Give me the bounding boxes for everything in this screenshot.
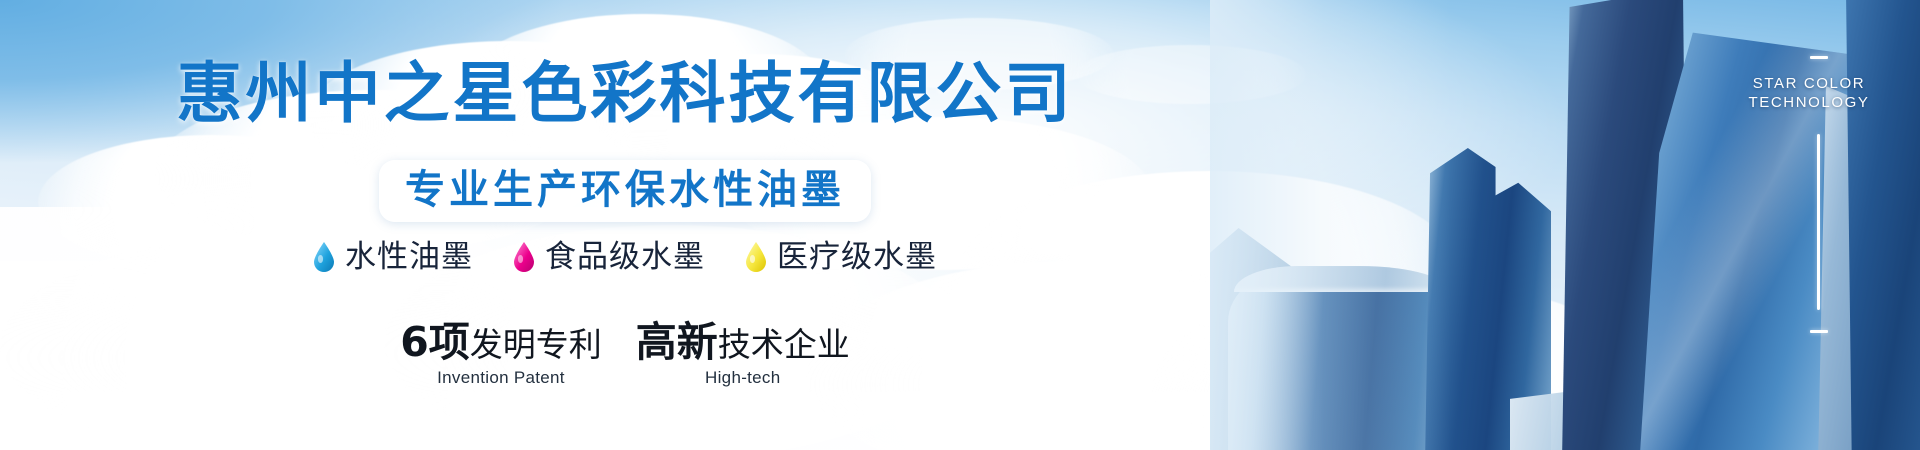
feature-label: 医疗级水墨 [777,240,937,274]
brand-mark-line2: TECHNOLOGY [1724,93,1894,112]
badge-prefix: 高新 [636,318,718,366]
tagline-row: 专业生产环保水性油墨 [0,160,1250,222]
water-drop-icon [745,242,767,272]
badge-cn-line: 高新技术企业 [636,322,850,365]
feature-label: 水性油墨 [345,240,473,274]
brand-tick-top [1810,56,1828,59]
feature-item: 水性油墨 [313,240,473,274]
water-drop-icon [313,242,335,272]
building-round-tower [1228,268,1456,450]
tagline-pill: 专业生产环保水性油墨 [379,160,871,222]
skyscraper-photo: STAR COLOR TECHNOLOGY [1210,0,1920,450]
banner-content: 惠州中之星色彩科技有限公司 专业生产环保水性油墨 [0,0,1250,450]
credential-badges: 6项发明专利 Invention Patent 高新技术企业 High-tech [0,322,1250,388]
brand-tick-bottom [1810,330,1828,333]
badge-invention-patent: 6项发明专利 Invention Patent [400,322,602,388]
tagline-text: 专业生产环保水性油墨 [405,167,845,213]
feature-label: 食品级水墨 [545,240,705,274]
badge-en-line: Invention Patent [400,367,602,388]
water-drop-icon [513,242,535,272]
feature-list: 水性油墨 [0,240,1250,274]
building-right-edge [1846,0,1920,450]
feature-item: 医疗级水墨 [745,240,937,274]
badge-en-line: High-tech [636,367,850,388]
badge-high-tech: 高新技术企业 High-tech [636,322,850,388]
company-title: 惠州中之星色彩科技有限公司 [0,58,1250,130]
hero-banner: Star Color STAR COLOR TECHNOLOGY 惠州中之星色彩… [0,0,1920,450]
brand-mark: STAR COLOR TECHNOLOGY [1724,74,1894,112]
feature-item: 食品级水墨 [513,240,705,274]
building-round-tower-cap [1234,266,1450,292]
brand-mark-line1: STAR COLOR [1724,74,1894,93]
badge-prefix: 6项 [400,318,470,366]
badge-suffix: 技术企业 [718,325,850,364]
badge-cn-line: 6项发明专利 [400,322,602,365]
brand-vertical-rule [1817,134,1820,310]
badge-suffix: 发明专利 [470,325,602,364]
